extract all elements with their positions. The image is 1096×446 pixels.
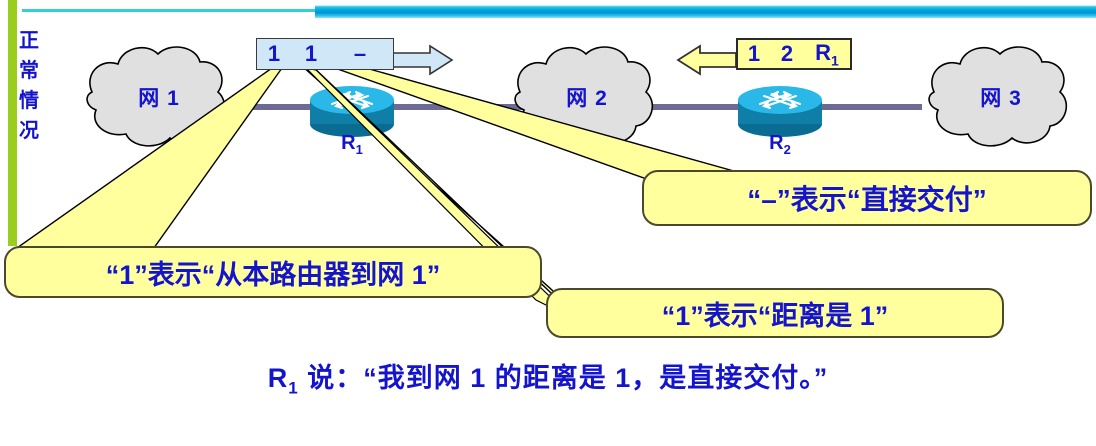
stage-label-char-2: 常 (16, 56, 42, 86)
stage-label: 正 常 情 况 (16, 26, 42, 146)
top-accent-band (315, 5, 1096, 18)
callout-direct-delivery[interactable]: “–”表示“直接交付” (642, 170, 1092, 226)
stage-label-char-3: 情 (16, 86, 42, 116)
callout-direct-delivery-text: “–”表示“直接交付” (747, 178, 987, 218)
bottom-caption-prefix: R (268, 363, 289, 393)
arrow-left-yellow (678, 46, 736, 74)
r2-table-cell-distance: 2 (770, 41, 804, 67)
router-2-label-text: R (769, 132, 783, 154)
cloud-net-3-label-wrap: 网 3 (928, 42, 1074, 154)
callout-from-this-router[interactable]: “1”表示“从本路由器到网 1” (4, 246, 542, 298)
stage-label-char-1: 正 (16, 26, 42, 56)
r1-table-cell-distance: 1 (291, 41, 331, 67)
r1-table-cell-nexthop: – (331, 41, 389, 67)
router-1-label: R1 (322, 132, 382, 157)
router-1-label-text: R (341, 132, 355, 154)
net-1-label: 网 1 (86, 42, 232, 154)
link-r1-to-net2 (368, 104, 528, 110)
net-2-label: 网 2 (514, 42, 660, 154)
bottom-caption-subscript: 1 (288, 378, 298, 397)
arrow-right-blue (392, 46, 452, 74)
slide-canvas: 正 常 情 况 网 1 网 2 网 3 (0, 0, 1096, 446)
bottom-caption-text: 说：“我到网 1 的距离是 1，是直接交付。” (299, 363, 829, 393)
r2-received-table[interactable]: 1 2 R1 (736, 38, 852, 70)
r2-table-cell-destination: 1 (738, 41, 770, 67)
cloud-net-2-label-wrap: 网 2 (514, 42, 660, 154)
callout-distance-is-1-text: “1”表示“距离是 1” (662, 294, 889, 333)
r1-table-cell-destination: 1 (257, 41, 291, 67)
router-2-icon (738, 86, 822, 137)
callout-from-this-router-text: “1”表示“从本路由器到网 1” (106, 253, 441, 292)
router-2-label: R2 (750, 132, 810, 157)
bottom-caption: R1 说：“我到网 1 的距离是 1，是直接交付。” (0, 356, 1096, 398)
router-2-label-sub: 2 (784, 142, 791, 157)
router-1-icon (310, 86, 394, 137)
callout-distance-is-1[interactable]: “1”表示“距离是 1” (546, 288, 1004, 338)
r1-advertised-table[interactable]: 1 1 – (256, 38, 394, 70)
r2-table-cell-nexthop: R1 (804, 40, 850, 68)
net-3-label: 网 3 (928, 42, 1074, 154)
cloud-net-1-label-wrap: 网 1 (86, 42, 232, 154)
router-1-label-sub: 1 (356, 142, 363, 157)
link-r2-to-net3 (810, 104, 922, 110)
stage-label-char-4: 况 (16, 116, 42, 146)
